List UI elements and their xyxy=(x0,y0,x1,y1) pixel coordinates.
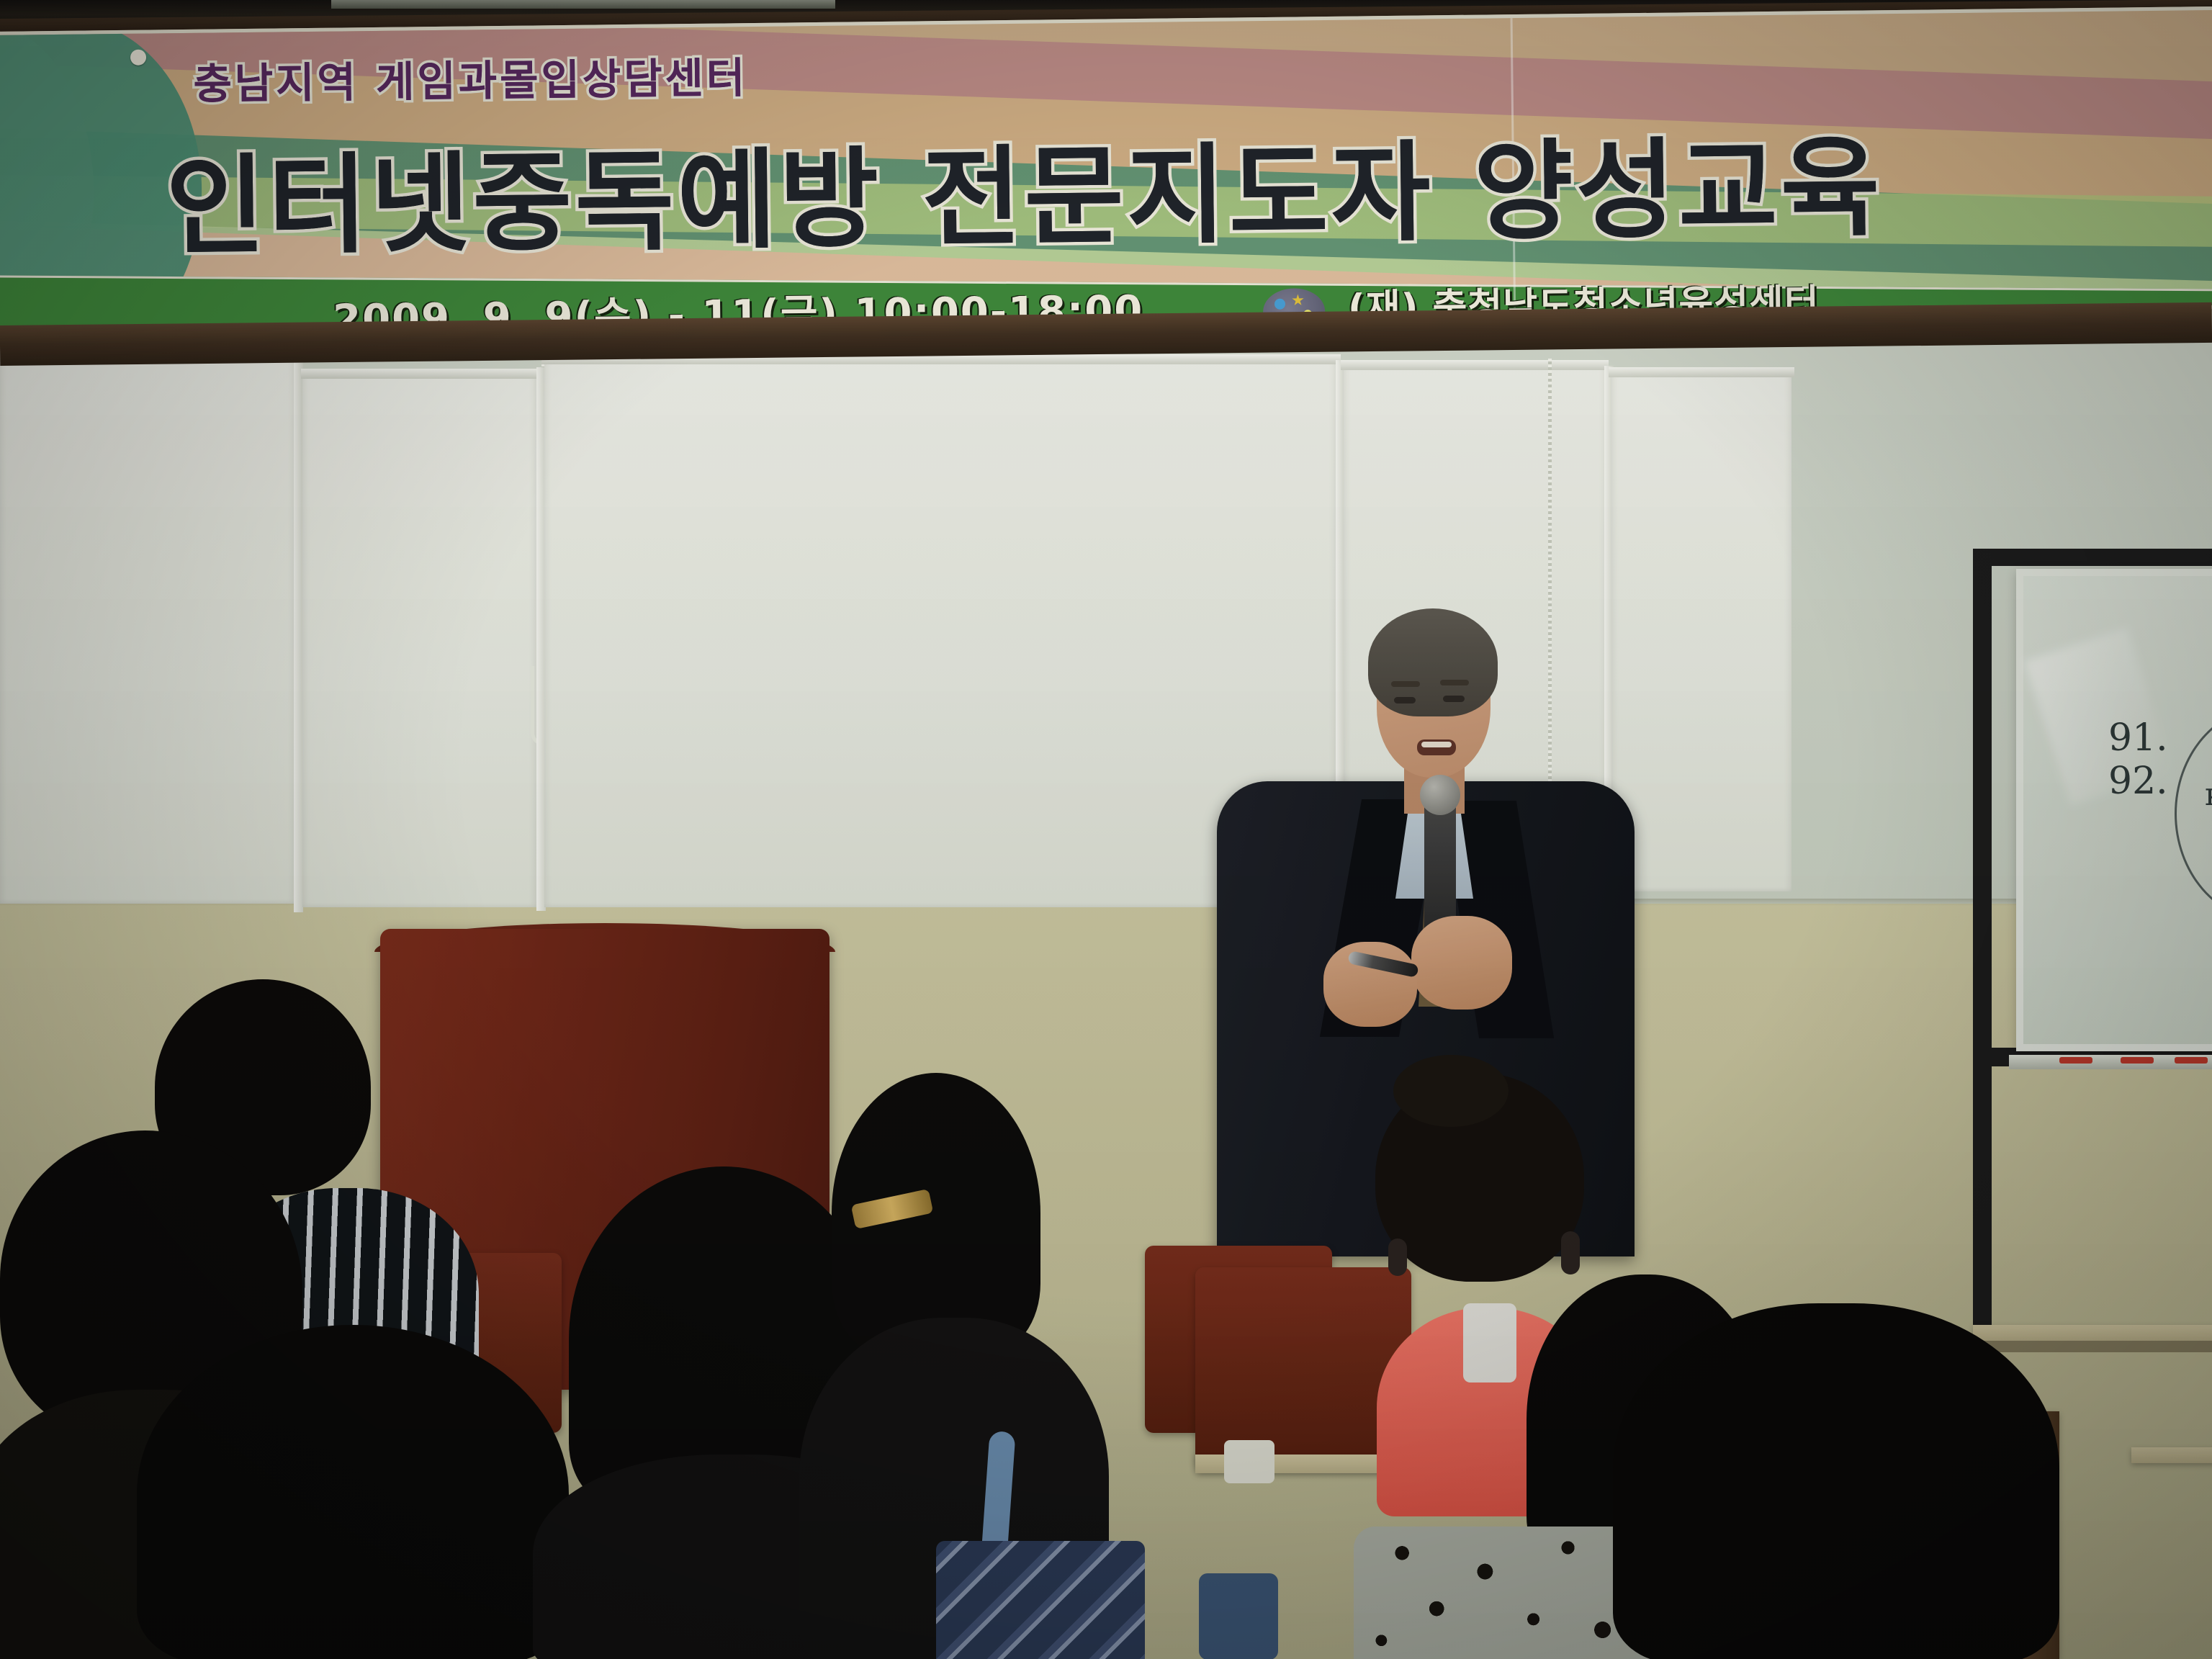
speaker-brow-left xyxy=(1391,681,1420,687)
speaker-eye-right xyxy=(1443,696,1465,702)
speaker-hair xyxy=(1368,608,1498,716)
banner-title: 인터넷중독예방 전문지도자 양성교육 xyxy=(165,100,1884,276)
whiteboard: 91. 92. ᴋ xyxy=(2016,569,2212,1051)
plaid-shoulder-bag xyxy=(936,1541,1145,1659)
speaker-eye-left xyxy=(1394,697,1416,703)
marker-red-3 xyxy=(2175,1057,2208,1064)
attendee-coral-top-woman-bun xyxy=(1393,1055,1509,1127)
whiteboard-handwriting-extra: ᴋ xyxy=(2205,776,2212,813)
lecture-hall-photo: 충남지역 게임과몰입상담센터 충남지역 게임과몰입상담센터 인터넷중독예방 전문… xyxy=(0,0,2212,1659)
desk-back-right-top xyxy=(1973,1325,2212,1342)
desk-back-right-2 xyxy=(2131,1447,2212,1463)
marker-red-2 xyxy=(2121,1057,2154,1064)
attendee-right-foreground-woman-hair xyxy=(1613,1303,2059,1659)
attendee-coral-top-woman-undershirt xyxy=(1463,1303,1516,1382)
desk-back-right-edge xyxy=(1973,1341,2212,1352)
blind-chain-4 xyxy=(1548,359,1552,791)
whiteboard-stand-post xyxy=(1973,554,1992,1404)
blind-rail-5 xyxy=(1609,367,1794,377)
banner-subtitle: 충남지역 게임과몰입상담센터 xyxy=(193,44,748,111)
speaker-brow-right xyxy=(1440,680,1469,685)
bag-secondary xyxy=(1199,1573,1278,1659)
earring-left-icon xyxy=(1388,1238,1407,1276)
marker-red-1 xyxy=(2059,1057,2092,1064)
speaker-mouth xyxy=(1417,739,1456,755)
white-tissue-pack xyxy=(1224,1440,1274,1483)
microphone-head-icon xyxy=(1420,775,1460,815)
whiteboard-handwriting: 91. 92. xyxy=(2108,716,2212,803)
earring-right-icon xyxy=(1561,1231,1580,1274)
attendee-foreground-left-woman-hair xyxy=(137,1325,569,1659)
banner-grommet xyxy=(130,50,146,66)
ceiling-light-fixture xyxy=(331,0,835,9)
speaker-hand-right xyxy=(1411,916,1512,1010)
whiteboard-stand-topbar xyxy=(1973,549,2212,566)
window-blind-2 xyxy=(302,374,536,907)
event-banner: 충남지역 게임과몰입상담센터 충남지역 게임과몰입상담센터 인터넷중독예방 전문… xyxy=(0,6,2212,334)
blind-rail-2 xyxy=(301,369,539,379)
blind-rail-4 xyxy=(1341,360,1609,370)
window-blind-left xyxy=(0,356,295,904)
window-blind-5 xyxy=(1611,373,1791,891)
